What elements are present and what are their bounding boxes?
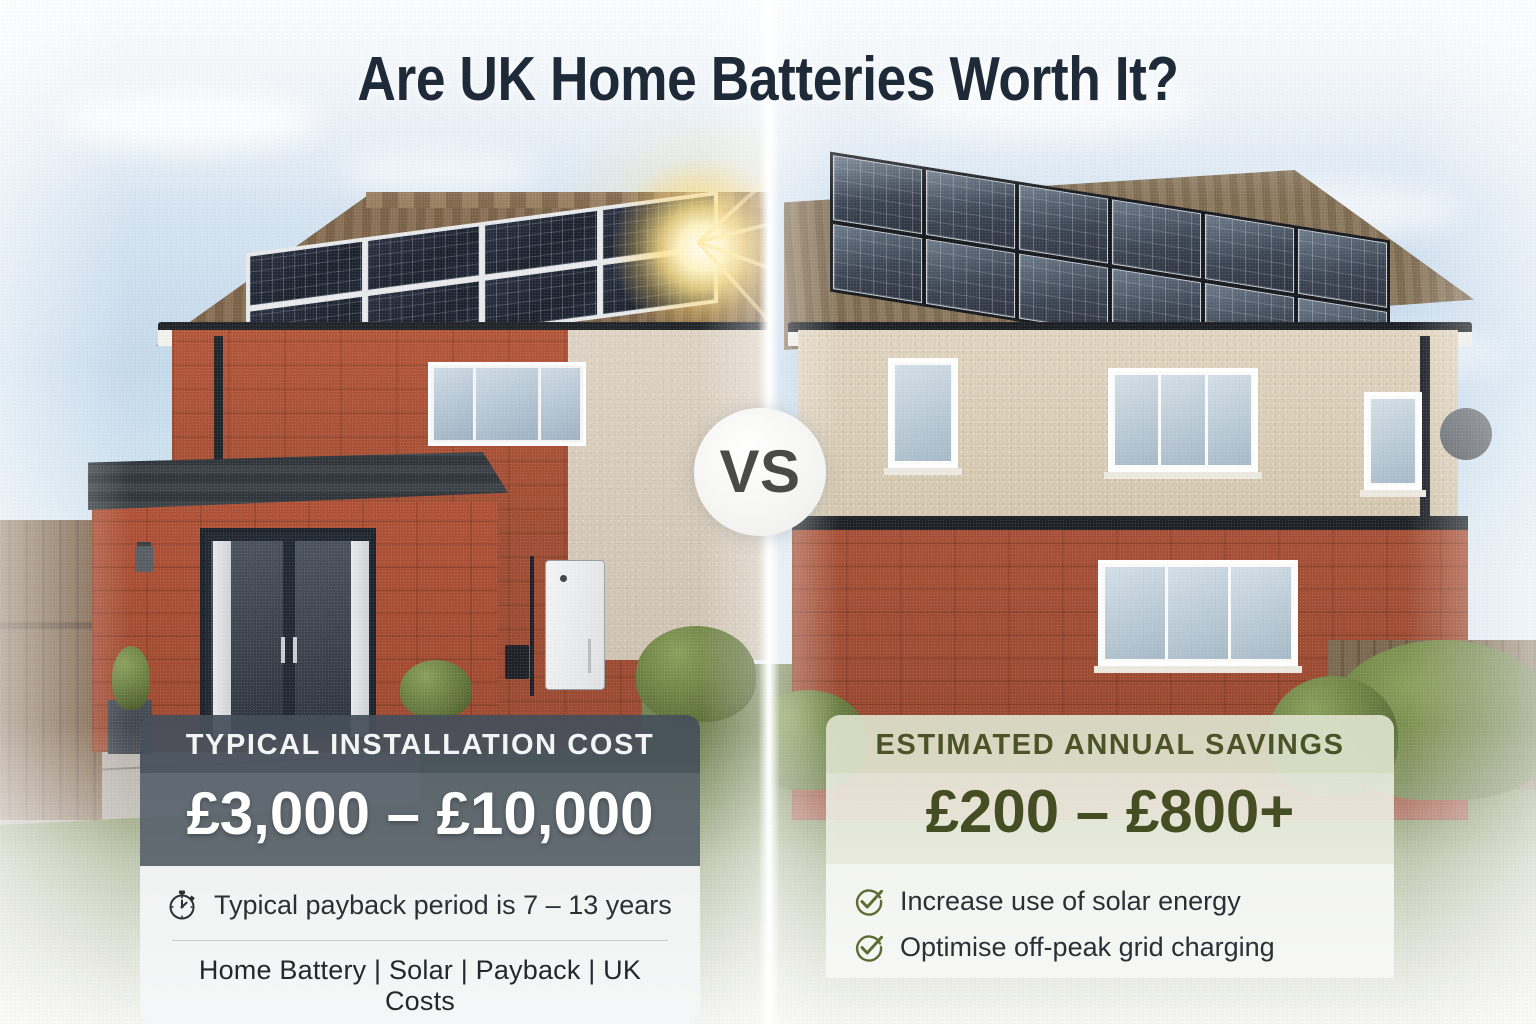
vs-label: VS bbox=[719, 442, 800, 502]
vs-badge-icon: VS bbox=[694, 408, 826, 536]
installation-cost-value: £3,000 – £10,000 bbox=[140, 773, 700, 866]
infographic-canvas: VS Are UK Home Batteries Worth It? TYPIC… bbox=[0, 0, 1536, 1024]
french-doors-icon bbox=[200, 528, 376, 740]
home-battery-icon bbox=[545, 560, 605, 690]
benefit-text: Optimise off-peak grid charging bbox=[900, 932, 1275, 963]
upvc-window-icon bbox=[888, 358, 958, 468]
upvc-window-icon bbox=[1108, 368, 1258, 472]
right-card-header: ESTIMATED ANNUAL SAVINGS bbox=[826, 715, 1394, 773]
annual-savings-value: £200 – £800+ bbox=[826, 773, 1394, 864]
check-circle-icon bbox=[852, 930, 886, 964]
installation-cost-card: TYPICAL INSTALLATION COST £3,000 – £10,0… bbox=[140, 715, 700, 1024]
left-card-tags: Home Battery | Solar | Payback | UK Cost… bbox=[166, 955, 674, 1017]
wall-lantern-icon bbox=[135, 546, 153, 572]
upvc-window-icon bbox=[428, 362, 586, 446]
stopwatch-icon bbox=[166, 888, 200, 922]
benefit-row: Increase use of solar energy bbox=[852, 884, 1368, 918]
right-haze bbox=[1406, 0, 1536, 1024]
shrub bbox=[400, 660, 472, 718]
payback-row: Typical payback period is 7 – 13 years bbox=[166, 888, 674, 922]
payback-note: Typical payback period is 7 – 13 years bbox=[214, 890, 672, 921]
upvc-window-icon bbox=[1098, 560, 1298, 666]
right-card-body: Increase use of solar energy Optimise of… bbox=[826, 864, 1394, 978]
page-title: Are UK Home Batteries Worth It? bbox=[108, 44, 1429, 115]
left-haze bbox=[0, 0, 130, 1024]
check-circle-icon bbox=[852, 884, 886, 918]
card-divider-line bbox=[172, 940, 668, 941]
left-card-header: TYPICAL INSTALLATION COST bbox=[140, 715, 700, 773]
benefit-row: Optimise off-peak grid charging bbox=[852, 930, 1368, 964]
annual-savings-card: ESTIMATED ANNUAL SAVINGS £200 – £800+ In… bbox=[826, 715, 1394, 1024]
junction-box bbox=[505, 645, 529, 679]
cable-conduit bbox=[530, 556, 534, 696]
benefit-text: Increase use of solar energy bbox=[900, 886, 1241, 917]
left-card-body: Typical payback period is 7 – 13 years H… bbox=[140, 866, 700, 1024]
